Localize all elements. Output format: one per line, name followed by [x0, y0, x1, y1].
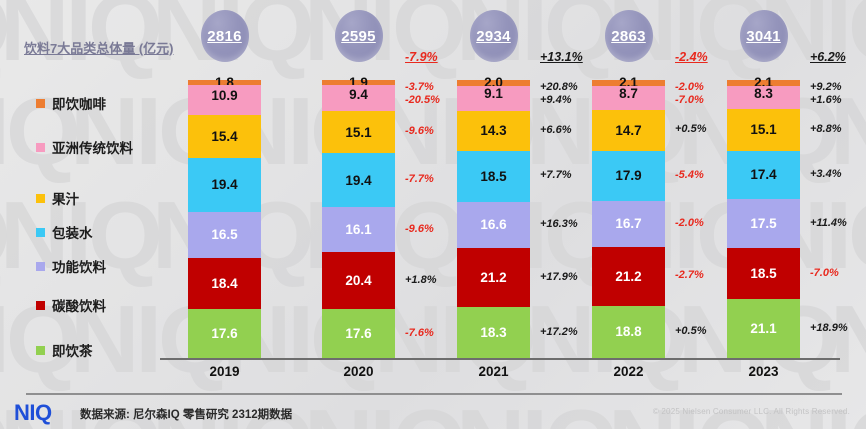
bar-segment-packaged_water[interactable]: 17.4	[727, 151, 800, 199]
bar-segment-carbonated[interactable]: 21.2	[592, 247, 665, 306]
bar-segment-carbonated[interactable]: 18.4	[188, 258, 261, 309]
bar-segment-value: 18.5	[750, 267, 776, 281]
bar-segment-value: 8.3	[754, 87, 773, 101]
bar-segment-packaged_water[interactable]: 19.4	[188, 158, 261, 212]
x-axis-label: 2019	[188, 364, 261, 379]
segment-growth-label: -7.0%	[810, 267, 839, 279]
legend-item-rtd_tea[interactable]: 即饮茶	[36, 340, 93, 360]
bar-segment-juice[interactable]: 15.1	[322, 111, 395, 153]
bar-segment-value: 18.8	[615, 325, 641, 339]
bar-segment-rtd_tea[interactable]: 18.3	[457, 307, 530, 358]
bar-segment-value: 8.7	[619, 87, 638, 101]
source-note: 数据来源: 尼尔森IQ 零售研究 2312期数据	[80, 406, 292, 422]
bar-segment-rtd_tea[interactable]: 17.6	[322, 309, 395, 358]
total-growth-label: +6.2%	[810, 50, 846, 64]
x-axis-label: 2021	[457, 364, 530, 379]
bar-segment-carbonated[interactable]: 21.2	[457, 248, 530, 307]
bar-segment-value: 14.3	[480, 124, 506, 138]
legend-item-label: 碳酸饮料	[52, 295, 106, 315]
bar-column: 2.18.714.717.916.721.218.8	[592, 80, 665, 358]
bar-segment-value: 17.6	[211, 327, 237, 341]
bar-column: 2.18.315.117.417.518.521.1	[727, 80, 800, 358]
segment-growth-label: +20.8%	[540, 81, 578, 93]
legend-item-label: 亚洲传统饮料	[52, 137, 133, 157]
bar-segment-rtd_tea[interactable]: 21.1	[727, 299, 800, 358]
segment-growth-label: +9.4%	[540, 94, 572, 106]
total-volume-value: 2934	[476, 28, 511, 45]
bar-segment-value: 21.2	[480, 271, 506, 285]
segment-growth-label: -2.0%	[675, 81, 704, 93]
segment-growth-label: -7.7%	[405, 173, 434, 185]
bar-segment-asian_traditional[interactable]: 10.9	[188, 85, 261, 115]
segment-growth-label: +1.6%	[810, 94, 842, 106]
bar-segment-packaged_water[interactable]: 17.9	[592, 151, 665, 201]
bar-segment-value: 18.4	[211, 277, 237, 291]
segment-growth-label: +0.5%	[675, 123, 707, 135]
segment-growth-label: +6.6%	[540, 124, 572, 136]
segment-growth-label: -2.7%	[675, 269, 704, 281]
segment-growth-label: +17.2%	[540, 326, 578, 338]
segment-growth-label: +0.5%	[675, 325, 707, 337]
bar-segment-value: 17.5	[750, 217, 776, 231]
bar-segment-functional[interactable]: 16.7	[592, 201, 665, 247]
bar-segment-value: 17.4	[750, 168, 776, 182]
bar-segment-value: 15.1	[750, 123, 776, 137]
chart-legend: 即饮咖啡亚洲传统饮料果汁包装水功能饮料碳酸饮料即饮茶	[36, 80, 186, 360]
bar-segment-value: 18.5	[480, 170, 506, 184]
segment-growth-label: +18.9%	[810, 322, 848, 334]
total-volume-value: 2863	[611, 28, 646, 45]
bar-segment-functional[interactable]: 16.5	[188, 212, 261, 258]
total-growth-label: -7.9%	[405, 50, 438, 64]
legend-item-packaged_water[interactable]: 包装水	[36, 222, 93, 242]
legend-item-rtd_coffee[interactable]: 即饮咖啡	[36, 93, 106, 113]
bar-segment-value: 19.4	[211, 178, 237, 192]
bar-segment-value: 15.1	[345, 126, 371, 140]
bar-column: 2.09.114.318.516.621.218.3	[457, 80, 530, 358]
segment-growth-label: -20.5%	[405, 94, 440, 106]
bar-segment-value: 9.1	[484, 87, 503, 101]
bar-segment-packaged_water[interactable]: 18.5	[457, 151, 530, 202]
bar-segment-functional[interactable]: 16.1	[322, 207, 395, 252]
total-volume-value: 2816	[207, 28, 242, 45]
bar-segment-carbonated[interactable]: 18.5	[727, 248, 800, 299]
total-volume-value: 2595	[341, 28, 376, 45]
legend-item-asian_traditional[interactable]: 亚洲传统饮料	[36, 137, 133, 157]
segment-growth-label: +7.7%	[540, 169, 572, 181]
bar-segment-value: 16.5	[211, 228, 237, 242]
bar-segment-functional[interactable]: 16.6	[457, 202, 530, 248]
segment-growth-label: -9.6%	[405, 223, 434, 235]
total-volume-bubble: 3041	[740, 10, 788, 62]
bar-segment-value: 17.9	[615, 169, 641, 183]
total-volume-bubble: 2863	[605, 10, 653, 62]
segment-growth-label: -5.4%	[675, 169, 704, 181]
legend-swatch-icon	[36, 346, 45, 355]
legend-swatch-icon	[36, 228, 45, 237]
bar-segment-value: 16.1	[345, 223, 371, 237]
bar-segment-juice[interactable]: 15.4	[188, 115, 261, 158]
segment-growth-label: -3.7%	[405, 81, 434, 93]
segment-growth-label: +1.8%	[405, 274, 437, 286]
legend-swatch-icon	[36, 194, 45, 203]
bar-segment-value: 20.4	[345, 274, 371, 288]
bar-column: 1.99.415.119.416.120.417.6	[322, 80, 395, 358]
bar-segment-asian_traditional[interactable]: 9.4	[322, 85, 395, 111]
segment-growth-label: +17.9%	[540, 271, 578, 283]
bar-segment-value: 16.6	[480, 218, 506, 232]
x-axis-label: 2022	[592, 364, 665, 379]
segment-growth-label: -7.6%	[405, 327, 434, 339]
segment-growth-label: +11.4%	[810, 217, 847, 229]
x-axis-line	[160, 358, 840, 360]
bar-segment-juice[interactable]: 14.7	[592, 110, 665, 151]
bar-segment-value: 16.7	[615, 217, 641, 231]
bar-segment-value: 15.4	[211, 130, 237, 144]
legend-item-label: 即饮茶	[52, 340, 93, 360]
bar-segment-rtd_tea[interactable]: 18.8	[592, 306, 665, 358]
segment-growth-label: +8.8%	[810, 123, 842, 135]
total-volume-bubble: 2816	[201, 10, 249, 62]
x-axis-label: 2023	[727, 364, 800, 379]
bar-segment-value: 9.4	[349, 88, 368, 102]
bar-segment-value: 19.4	[345, 174, 371, 188]
segment-growth-label: +3.4%	[810, 168, 842, 180]
legend-item-label: 即饮咖啡	[52, 93, 106, 113]
bar-segment-juice[interactable]: 14.3	[457, 111, 530, 151]
legend-item-functional[interactable]: 功能饮料	[36, 256, 106, 276]
legend-item-label: 果汁	[52, 188, 79, 208]
bar-column: 1.810.915.419.416.518.417.6	[188, 80, 261, 358]
segment-growth-label: +9.2%	[810, 81, 842, 93]
bar-segment-value: 21.2	[615, 270, 641, 284]
legend-swatch-icon	[36, 301, 45, 310]
legend-swatch-icon	[36, 262, 45, 271]
legend-item-carbonated[interactable]: 碳酸饮料	[36, 295, 106, 315]
bar-segment-functional[interactable]: 17.5	[727, 199, 800, 248]
bar-segment-carbonated[interactable]: 20.4	[322, 252, 395, 309]
bar-segment-asian_traditional[interactable]: 9.1	[457, 86, 530, 111]
bar-segment-rtd_tea[interactable]: 17.6	[188, 309, 261, 358]
bar-segment-asian_traditional[interactable]: 8.7	[592, 86, 665, 110]
copyright-note: © 2025 Nielsen Consumer LLC. All Rights …	[653, 407, 850, 416]
bar-segment-juice[interactable]: 15.1	[727, 109, 800, 151]
bar-segment-value: 14.7	[615, 124, 641, 138]
footer-divider	[26, 393, 842, 395]
segment-growth-label: -9.6%	[405, 125, 434, 137]
total-growth-label: +13.1%	[540, 50, 583, 64]
segment-growth-label: +16.3%	[540, 218, 578, 230]
x-axis-label: 2020	[322, 364, 395, 379]
legend-swatch-icon	[36, 143, 45, 152]
legend-item-label: 功能饮料	[52, 256, 106, 276]
legend-item-juice[interactable]: 果汁	[36, 188, 79, 208]
total-volume-value: 3041	[746, 28, 781, 45]
total-volume-bubble: 2934	[470, 10, 518, 62]
bar-segment-value: 10.9	[211, 89, 237, 103]
segment-growth-label: -7.0%	[675, 94, 704, 106]
total-growth-label: -2.4%	[675, 50, 708, 64]
bar-segment-value: 17.6	[345, 327, 371, 341]
legend-item-label: 包装水	[52, 222, 93, 242]
total-volume-bubble: 2595	[335, 10, 383, 62]
bar-segment-packaged_water[interactable]: 19.4	[322, 153, 395, 207]
bar-segment-value: 21.1	[750, 322, 776, 336]
segment-growth-label: -2.0%	[675, 217, 704, 229]
bar-segment-asian_traditional[interactable]: 8.3	[727, 86, 800, 109]
niq-logo: NIQ	[14, 400, 52, 426]
bar-segment-value: 18.3	[480, 326, 506, 340]
legend-swatch-icon	[36, 99, 45, 108]
